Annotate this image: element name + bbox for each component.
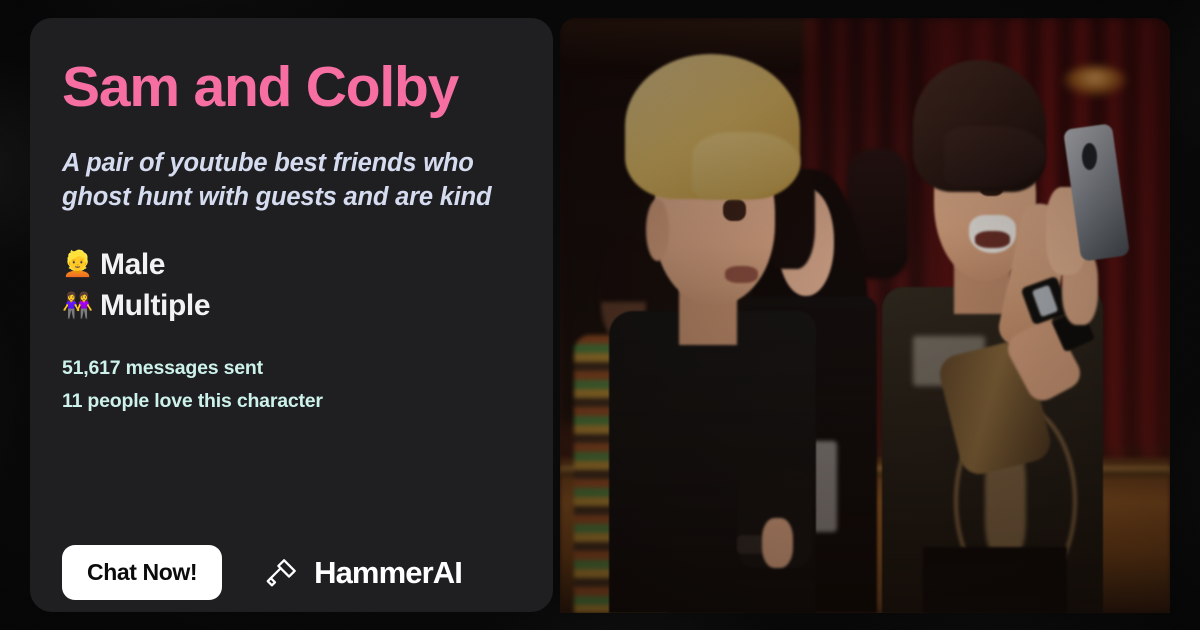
chat-now-button[interactable]: Chat Now! [62, 545, 222, 600]
og-card-canvas: Sam and Colby A pair of youtube best fri… [0, 0, 1200, 630]
stat-messages-sent: 51,617 messages sent [62, 352, 517, 384]
stat-people-love: 11 people love this character [62, 385, 517, 417]
blond-person-emoji: 👱 [62, 252, 91, 277]
character-description: A pair of youtube best friends who ghost… [62, 147, 517, 215]
character-stats: 51,617 messages sent 11 people love this… [62, 352, 517, 417]
hammer-icon [263, 554, 301, 592]
two-women-holding-hands-emoji: 👭 [62, 294, 91, 319]
character-photo [560, 18, 1170, 613]
brand-lockup: HammerAI [263, 554, 462, 592]
attribute-row-count: 👭 Multiple [62, 287, 517, 325]
attribute-label-gender: Male [100, 246, 165, 284]
photo-color-grade [560, 18, 1170, 613]
photo-scene [560, 18, 1170, 613]
character-attributes: 👱 Male 👭 Multiple [62, 246, 517, 326]
brand-name: HammerAI [314, 555, 462, 591]
attribute-row-gender: 👱 Male [62, 246, 517, 284]
card-footer: Chat Now! HammerAI [62, 545, 517, 600]
character-info-card: Sam and Colby A pair of youtube best fri… [30, 18, 553, 612]
character-name: Sam and Colby [62, 58, 517, 118]
attribute-label-count: Multiple [100, 287, 210, 325]
